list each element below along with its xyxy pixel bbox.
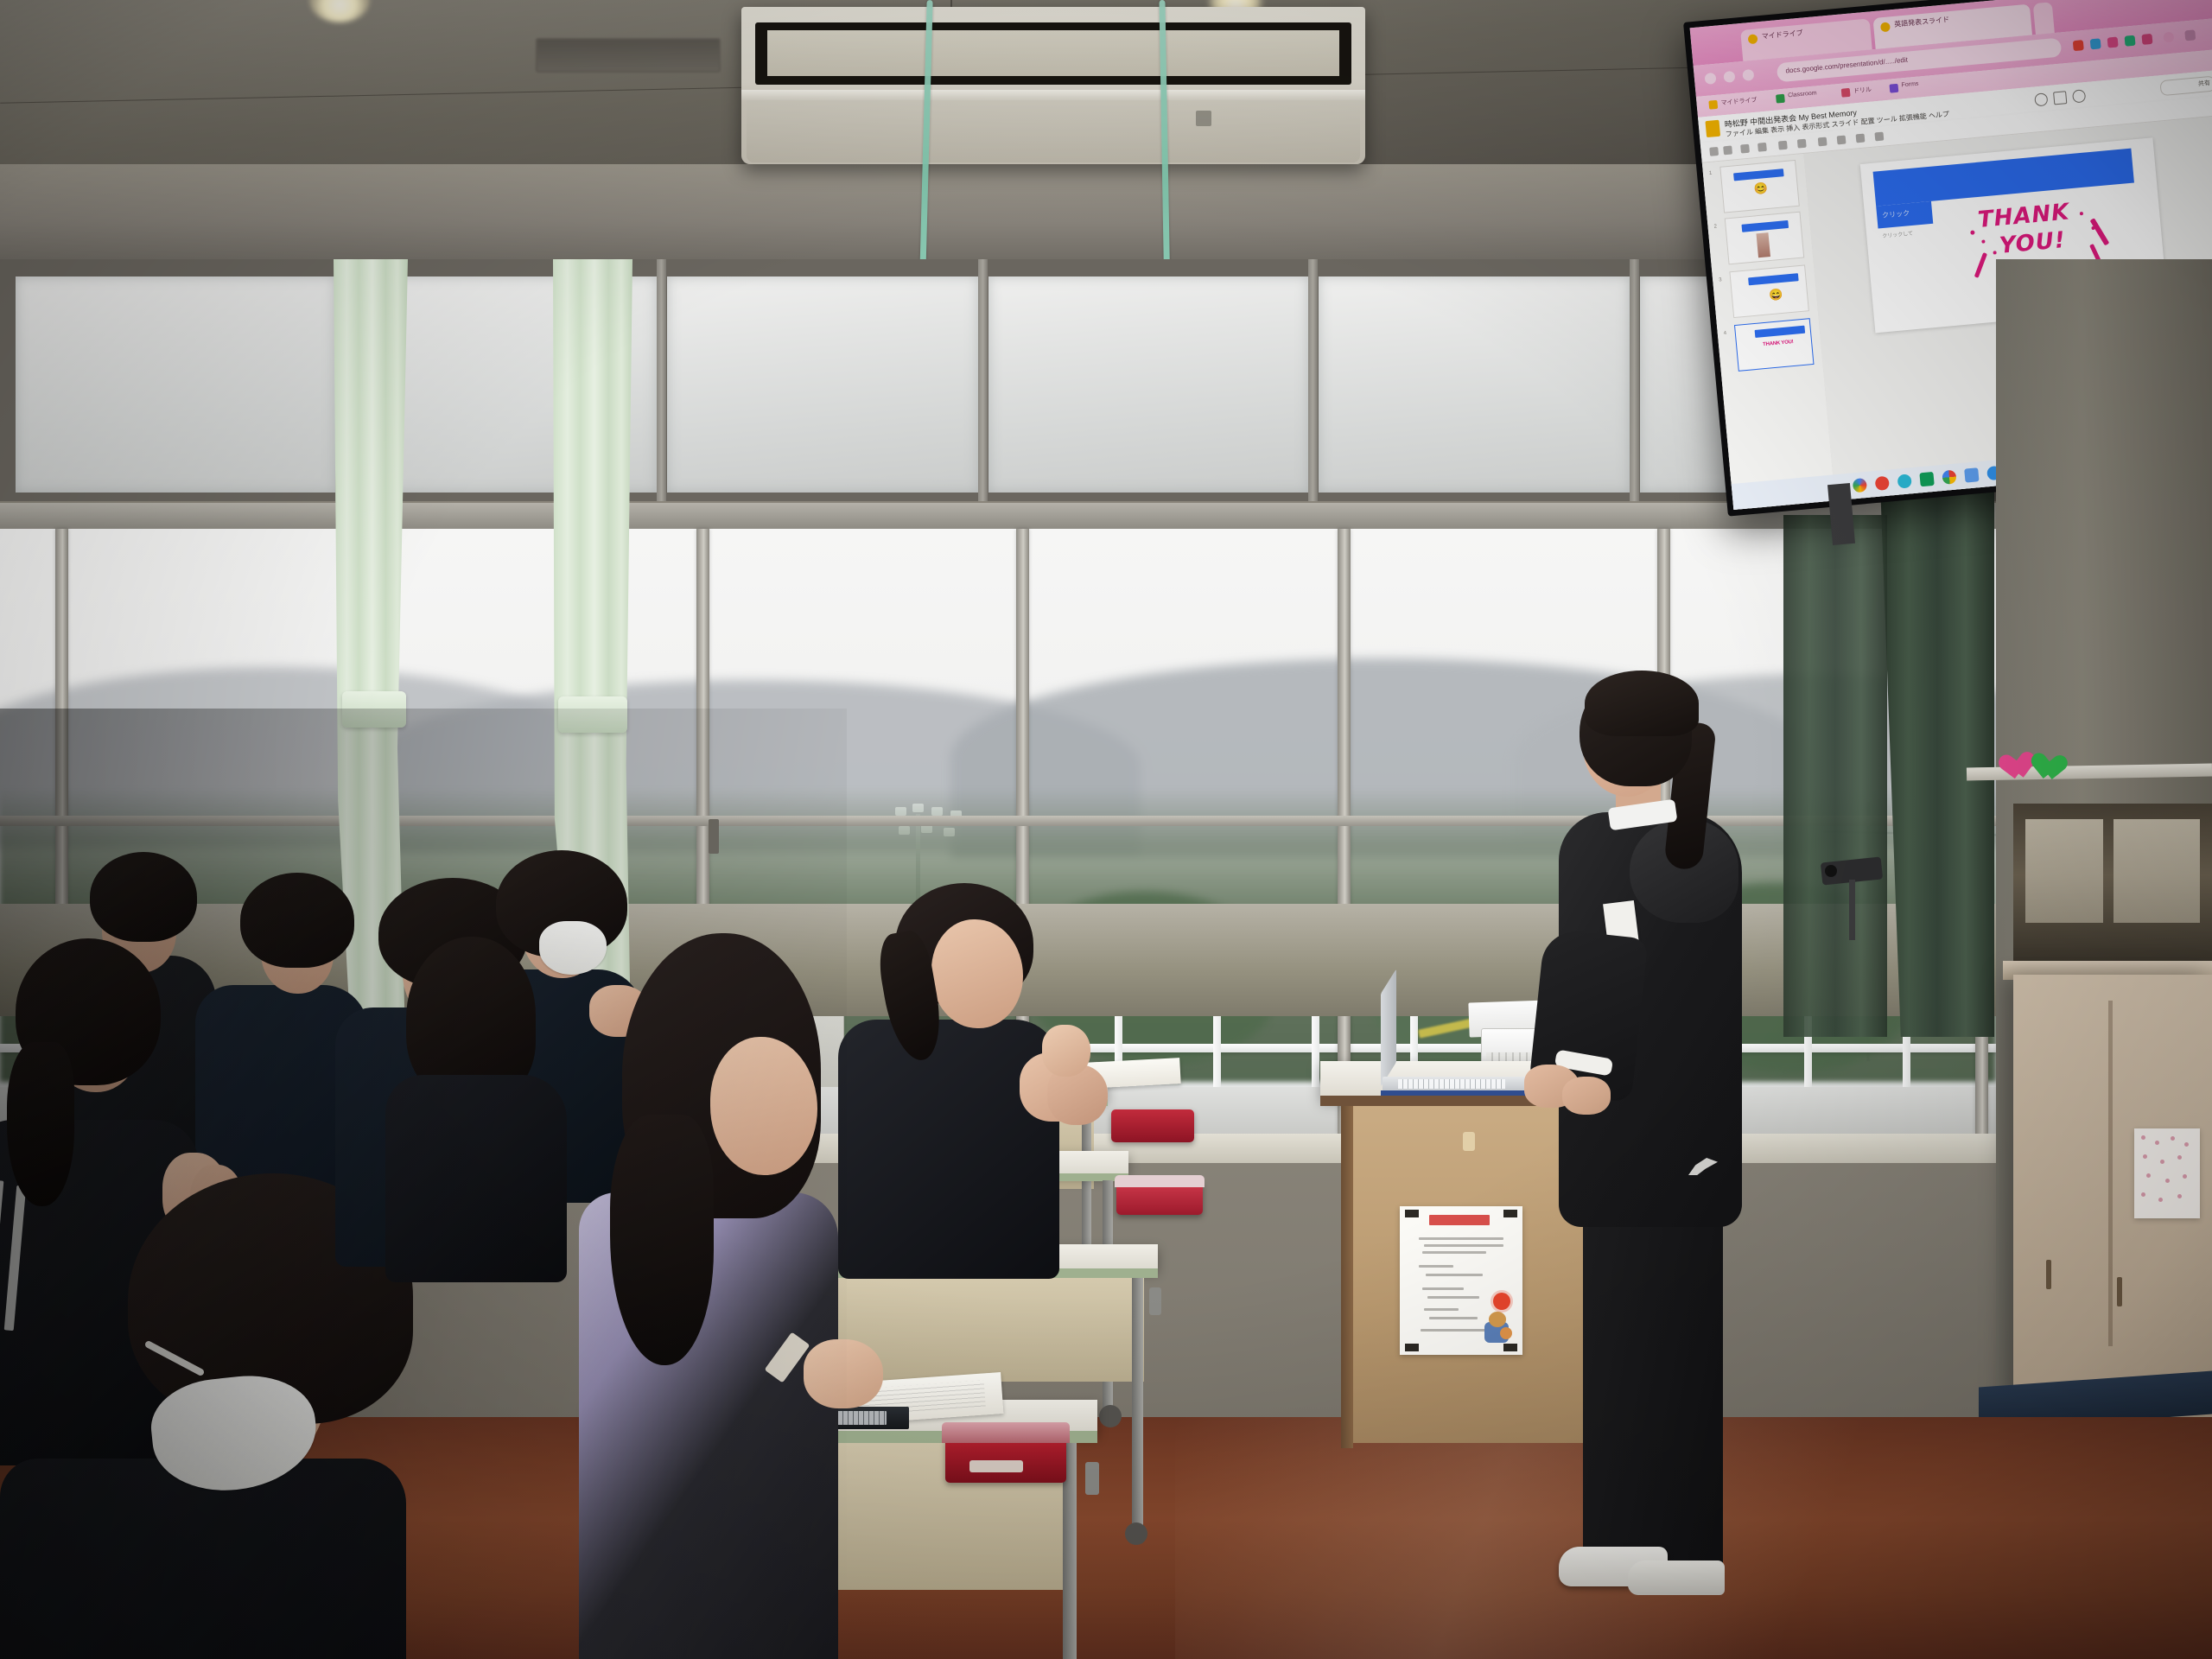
extension-icon[interactable] <box>2141 34 2152 45</box>
new-tab-button[interactable] <box>2033 2 2055 35</box>
line-icon[interactable] <box>1874 132 1884 142</box>
bookmark-icon[interactable] <box>1708 100 1718 110</box>
bookmark-icon[interactable] <box>1776 94 1785 104</box>
slide-thumbnail[interactable]: 😄 <box>1729 264 1809 318</box>
slide-thumbnail[interactable] <box>1725 212 1805 265</box>
tape-corner <box>1405 1210 1419 1217</box>
desk-caster <box>1099 1405 1122 1427</box>
textbox-icon[interactable] <box>1818 137 1827 147</box>
thumbnail-number: 3 <box>1719 277 1722 283</box>
desk-hook <box>1149 1287 1161 1315</box>
paint-format-icon[interactable] <box>1758 143 1767 152</box>
presenter-legs <box>1583 1201 1723 1573</box>
thumbnail-headline: THANK YOU! <box>1763 340 1794 347</box>
redo-icon[interactable] <box>1723 145 1732 155</box>
air-conditioner <box>741 7 1365 164</box>
webcam-stand <box>1849 880 1855 940</box>
comment-icon[interactable] <box>2053 91 2067 105</box>
image-icon[interactable] <box>1837 136 1847 145</box>
sparkle-slash-icon <box>2090 218 2110 245</box>
cabinet-poster <box>2134 1128 2200 1218</box>
thumbnail-number: 2 <box>1713 224 1717 229</box>
podium-laptop-keyboard[interactable] <box>1398 1079 1505 1089</box>
emoji-icon: 😄 <box>1768 289 1783 301</box>
chrome-icon[interactable] <box>1942 470 1956 485</box>
window-mullion <box>1338 529 1351 1134</box>
desk-hook <box>1085 1462 1099 1495</box>
files-icon[interactable] <box>1964 467 1979 482</box>
bookmark-icon[interactable] <box>1841 88 1851 98</box>
stop-icon[interactable] <box>1875 476 1890 491</box>
presenter-hand <box>1562 1077 1611 1115</box>
zoom-icon[interactable] <box>1778 141 1788 150</box>
sheets-icon[interactable] <box>1919 472 1934 486</box>
classroom-photo: マイドライブ 英語発表スライド docs.google.com/presenta… <box>0 0 2212 1659</box>
extension-icon[interactable] <box>2073 40 2084 51</box>
webcam-lens-icon <box>1825 865 1837 877</box>
select-icon[interactable] <box>1797 139 1807 149</box>
bookmark-icon[interactable] <box>1889 84 1898 93</box>
sparkle-slash-icon <box>1974 252 1987 278</box>
share-label: 共有 <box>2197 79 2210 88</box>
frosted-pane <box>1319 276 1630 493</box>
frosted-pane <box>667 276 978 493</box>
browser-menu-icon[interactable] <box>2184 29 2196 41</box>
window-transom-rail <box>0 503 1996 529</box>
curtain-tieback[interactable] <box>558 696 627 733</box>
thumbnail-number: 1 <box>1709 171 1713 176</box>
pencil-case-clasp <box>969 1460 1023 1472</box>
posted-notice <box>1400 1206 1522 1355</box>
pencil-case <box>1111 1109 1194 1142</box>
ac-vent-slot <box>755 22 1351 85</box>
headline-line-2: YOU! <box>1999 227 2067 259</box>
presenter-shoe <box>1628 1560 1725 1595</box>
sparkle-icon <box>1970 230 1974 234</box>
extension-icon[interactable] <box>2107 37 2119 48</box>
cabinet-handle[interactable] <box>2046 1260 2051 1289</box>
cabinet-handle[interactable] <box>2117 1277 2122 1306</box>
bookmark-item[interactable]: ドリル <box>1853 86 1872 96</box>
frosted-pane <box>988 276 1308 493</box>
drawer-knob[interactable] <box>1463 1132 1475 1151</box>
undo-icon[interactable] <box>1709 147 1719 156</box>
tape-corner <box>1405 1344 1419 1351</box>
print-icon[interactable] <box>1740 144 1750 154</box>
bear-icon <box>1481 1310 1512 1344</box>
curtain-tieback[interactable] <box>342 691 406 728</box>
sun-icon <box>1493 1293 1510 1310</box>
photo-thumb <box>1756 232 1770 257</box>
slides-logo-icon <box>1705 120 1720 137</box>
slide-thumbnail-selected[interactable]: THANK YOU! <box>1734 318 1815 372</box>
sparkle-icon <box>2080 212 2083 215</box>
upper-cupboard[interactable] <box>2013 804 2212 963</box>
ceiling-vent-icon <box>536 38 721 73</box>
launcher-icon[interactable] <box>1853 478 1867 493</box>
redacted-subtitle-text: クリックして <box>1882 229 1913 239</box>
classroom-icon[interactable] <box>1897 474 1911 488</box>
sparkle-icon <box>1993 251 1996 254</box>
ac-brand-label <box>1182 114 1286 126</box>
student-presenter <box>1526 674 1820 1642</box>
notice-header <box>1429 1215 1490 1225</box>
emoji-icon: 😊 <box>1753 182 1768 194</box>
window-latch[interactable] <box>709 819 719 854</box>
desk-caster <box>1125 1522 1147 1545</box>
paper-heart-green <box>2036 753 2068 783</box>
slide-thumbnail[interactable]: 😊 <box>1719 160 1800 213</box>
frosted-pane <box>16 276 335 493</box>
tape-corner <box>1503 1210 1517 1217</box>
shape-icon[interactable] <box>1856 134 1866 143</box>
extension-icon[interactable] <box>2125 35 2136 47</box>
extension-icon[interactable] <box>2090 38 2101 49</box>
thumbnail-number: 4 <box>1724 331 1727 336</box>
sparkle-icon <box>1981 239 1985 243</box>
tape-corner <box>1503 1344 1517 1351</box>
